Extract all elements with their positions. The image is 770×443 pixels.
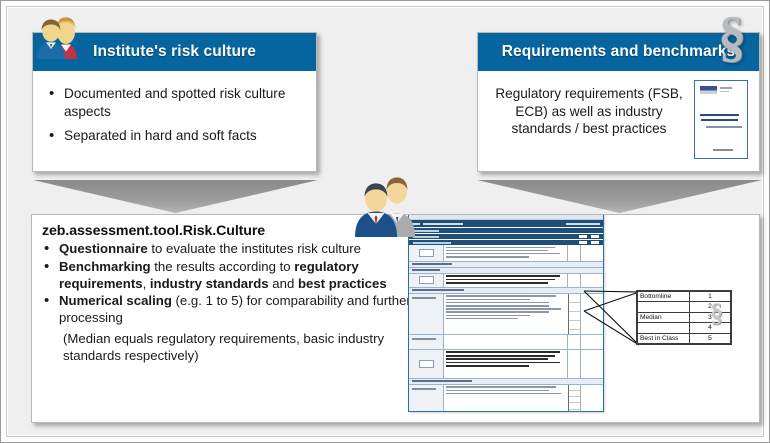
table-row bbox=[409, 350, 603, 379]
sheet-section-band bbox=[409, 234, 603, 239]
sheet-cell bbox=[444, 385, 568, 411]
bullet-emphasis: industry standards bbox=[150, 276, 269, 291]
sheet-scale-column bbox=[568, 294, 580, 334]
sheet-cell bbox=[444, 294, 568, 334]
sheet-header-row bbox=[409, 220, 603, 227]
table-row bbox=[409, 274, 603, 288]
sheet-cell-narrow bbox=[567, 274, 580, 287]
table-row bbox=[409, 245, 603, 262]
sheet-cell-narrow bbox=[567, 350, 580, 378]
document-logo-line bbox=[720, 87, 732, 89]
section-symbol-icon: § bbox=[718, 9, 746, 65]
sheet-row-label bbox=[409, 245, 444, 261]
down-arrow-left bbox=[33, 180, 318, 213]
panel-text-block: zeb.assessment.tool.Risk.Culture Questio… bbox=[42, 223, 434, 364]
bullet-emphasis: Questionnaire bbox=[59, 241, 148, 256]
document-logo-line-2 bbox=[720, 91, 729, 93]
bullet-text: and bbox=[269, 276, 298, 291]
sheet-cell-score bbox=[580, 335, 603, 349]
bullet-text: , bbox=[143, 276, 150, 291]
sheet-row-label bbox=[409, 350, 444, 378]
sheet-cell bbox=[444, 350, 567, 378]
card-left-title: Institute's risk culture bbox=[93, 43, 256, 61]
document-logo-icon bbox=[700, 86, 717, 94]
sheet-cell bbox=[444, 274, 567, 287]
legend-label bbox=[638, 323, 690, 333]
table-row bbox=[409, 294, 603, 335]
document-subtitle-line bbox=[706, 126, 742, 128]
list-item: Separated in hard and soft facts bbox=[47, 127, 306, 145]
two-businessmen-icon bbox=[352, 175, 420, 237]
legend-label bbox=[638, 302, 690, 312]
sheet-cell-score bbox=[580, 274, 603, 287]
list-item: Benchmarking the results according to re… bbox=[42, 259, 434, 293]
assessment-tool-spreadsheet-screenshot[interactable] bbox=[408, 214, 604, 412]
sheet-cell bbox=[444, 335, 567, 349]
card-left-bullet-list: Documented and spotted risk culture aspe… bbox=[47, 85, 306, 146]
list-item: Documented and spotted risk culture aspe… bbox=[47, 85, 306, 121]
panel-note: (Median equals regulatory requirements, … bbox=[42, 331, 434, 365]
bullet-emphasis: Benchmarking bbox=[59, 259, 151, 274]
legend-label: Bottomline bbox=[638, 292, 690, 302]
panel-bullet-list: Questionnaire to evaluate the institutes… bbox=[42, 241, 434, 327]
table-row: Best in Class 5 bbox=[638, 333, 731, 343]
sheet-cell-narrow bbox=[567, 335, 580, 349]
table-row bbox=[409, 335, 603, 350]
section-symbol-small-icon: § bbox=[710, 300, 723, 326]
document-title-lines bbox=[700, 114, 742, 124]
bullet-text: the results according to bbox=[151, 259, 295, 274]
sheet-cell-narrow bbox=[567, 245, 580, 261]
card-right-title: Requirements and benchmarks bbox=[502, 43, 736, 61]
sheet-cell-score bbox=[580, 350, 603, 378]
sheet-row-label bbox=[409, 294, 444, 334]
down-arrow-right bbox=[477, 180, 762, 213]
legend-value: 5 bbox=[690, 333, 731, 343]
sheet-cell bbox=[444, 245, 567, 261]
card-right-header: Requirements and benchmarks bbox=[478, 33, 759, 71]
card-left-body: Documented and spotted risk culture aspe… bbox=[33, 71, 316, 158]
sheet-cell-score bbox=[580, 245, 603, 261]
sheet-row-label bbox=[409, 274, 444, 287]
screenshot-canvas: Institute's risk culture Documented and … bbox=[0, 0, 770, 443]
document-footer-line bbox=[713, 149, 733, 151]
regulatory-document-thumbnail bbox=[694, 80, 748, 159]
slide-surface: Institute's risk culture Documented and … bbox=[6, 6, 764, 437]
legend-label: Best in Class bbox=[638, 333, 690, 343]
card-right-text: Regulatory requirements (FSB, ECB) as we… bbox=[486, 77, 692, 138]
sheet-cell-score bbox=[580, 385, 603, 411]
table-row bbox=[409, 385, 603, 412]
bullet-text: to evaluate the institutes risk culture bbox=[148, 241, 361, 256]
bullet-emphasis: Numerical scaling bbox=[59, 293, 172, 308]
list-item: Questionnaire to evaluate the institutes… bbox=[42, 241, 434, 258]
legend-label: Median bbox=[638, 312, 690, 322]
two-people-icon bbox=[33, 17, 83, 59]
bullet-emphasis: best practices bbox=[298, 276, 387, 291]
sheet-cell-score bbox=[580, 294, 603, 334]
card-right-body: Regulatory requirements (FSB, ECB) as we… bbox=[478, 71, 759, 163]
sheet-scale-column bbox=[568, 385, 580, 411]
sheet-row-label bbox=[409, 335, 444, 349]
sheet-section-band bbox=[409, 228, 603, 233]
sheet-row-label bbox=[409, 385, 444, 411]
list-item: Numerical scaling (e.g. 1 to 5) for comp… bbox=[42, 293, 434, 327]
